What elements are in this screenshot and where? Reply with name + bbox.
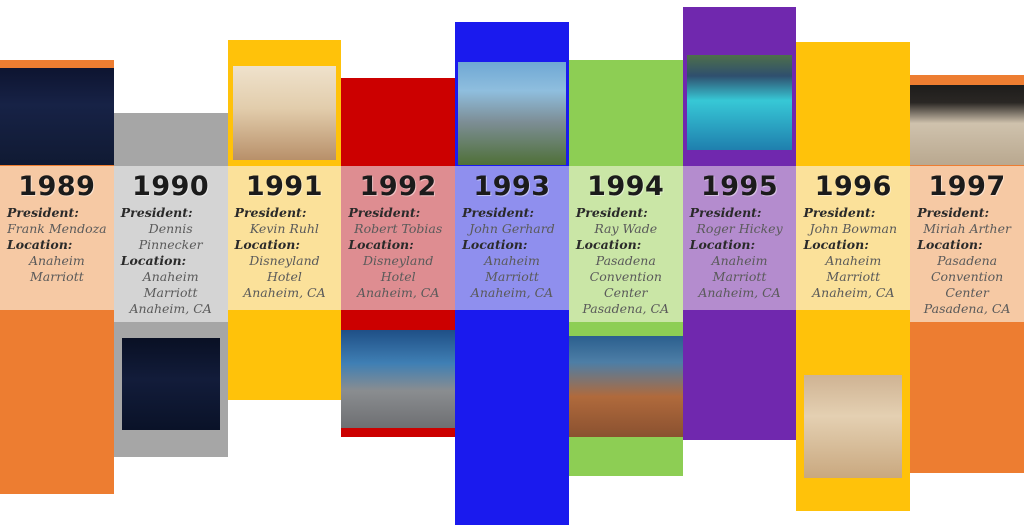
location-value-line: Anaheim, CA xyxy=(796,285,910,301)
location-label: Location: xyxy=(796,237,910,253)
photo-convention-center-banquet-hall xyxy=(910,85,1024,165)
timeline-column-1990[interactable]: 1990President:Dennis PinneckerLocation:A… xyxy=(114,0,228,531)
photo-marriott-atrium-lobby xyxy=(804,375,902,478)
location-label: Location: xyxy=(341,237,455,253)
president-label: President: xyxy=(683,205,797,221)
president-value: John Gerhard xyxy=(455,221,569,237)
president-label: President: xyxy=(0,205,114,221)
location-label: Location: xyxy=(910,237,1024,253)
president-label: President: xyxy=(114,205,228,221)
location-value-line: Anaheim, CA xyxy=(228,285,342,301)
year-label: 1994 xyxy=(569,166,683,205)
president-label: President: xyxy=(569,205,683,221)
year-info-panel[interactable]: 1994President:Ray WadeLocation:PasadenaC… xyxy=(569,166,683,322)
president-value: Kevin Ruhl xyxy=(228,221,342,237)
location-value-line: Anaheim xyxy=(0,253,114,269)
location-value-line: Pasadena, CA xyxy=(910,301,1024,317)
president-value: Dennis Pinnecker xyxy=(114,221,228,253)
timeline-column-1993[interactable]: 1993President:John GerhardLocation:Anahe… xyxy=(455,0,569,531)
location-value-line: Disneyland Hotel xyxy=(228,253,342,285)
location-value-line: Marriott xyxy=(0,269,114,285)
location-value-line: Pasadena xyxy=(910,253,1024,269)
year-info-panel[interactable]: 1990President:Dennis PinneckerLocation:A… xyxy=(114,166,228,322)
location-value-line: Anaheim, CA xyxy=(683,285,797,301)
location-label: Location: xyxy=(0,237,114,253)
year-label: 1996 xyxy=(796,166,910,205)
photo-anaheim-resort-walkway-night xyxy=(122,338,220,430)
year-info-panel[interactable]: 1997President:Miriah ArtherLocation:Pasa… xyxy=(910,166,1024,322)
photo-anaheim-marriott-tower-daylight xyxy=(458,62,566,165)
president-value: Robert Tobias xyxy=(341,221,455,237)
president-label: President: xyxy=(910,205,1024,221)
timeline-column-1996[interactable]: 1996President:John BowmanLocation:Anahei… xyxy=(796,0,910,531)
year-info-panel[interactable]: 1989President:Frank MendozaLocation:Anah… xyxy=(0,166,114,310)
president-label: President: xyxy=(341,205,455,221)
year-label: 1991 xyxy=(228,166,342,205)
year-info-panel[interactable]: 1993President:John GerhardLocation:Anahe… xyxy=(455,166,569,310)
year-info-panel[interactable]: 1992President:Robert TobiasLocation:Disn… xyxy=(341,166,455,310)
location-value-line: Pasadena, CA xyxy=(569,301,683,317)
year-label: 1993 xyxy=(455,166,569,205)
photo-pasadena-convention-center-evening xyxy=(569,336,683,437)
president-value: John Bowman xyxy=(796,221,910,237)
president-value: Frank Mendoza xyxy=(0,221,114,237)
location-value-line: Anaheim, CA xyxy=(455,285,569,301)
timeline-column-1992[interactable]: 1992President:Robert TobiasLocation:Disn… xyxy=(341,0,455,531)
year-info-panel[interactable]: 1996President:John BowmanLocation:Anahei… xyxy=(796,166,910,310)
location-label: Location: xyxy=(683,237,797,253)
president-value: Miriah Arther xyxy=(910,221,1024,237)
location-value-line: Disneyland Hotel xyxy=(341,253,455,285)
timeline-column-1991[interactable]: 1991President:Kevin RuhlLocation:Disneyl… xyxy=(228,0,342,531)
president-label: President: xyxy=(455,205,569,221)
location-value-line: Convention Center xyxy=(910,269,1024,301)
location-value-line: Anaheim Marriott xyxy=(796,253,910,285)
year-label: 1997 xyxy=(910,166,1024,205)
photo-hotel-pool-loungers xyxy=(687,55,793,150)
location-value-line: Pasadena xyxy=(569,253,683,269)
timeline-column-1994[interactable]: 1994President:Ray WadeLocation:PasadenaC… xyxy=(569,0,683,531)
location-label: Location: xyxy=(455,237,569,253)
location-label: Location: xyxy=(228,237,342,253)
location-value-line: Anaheim xyxy=(114,269,228,285)
timeline-column-1995[interactable]: 1995President:Roger HickeyLocation:Anahe… xyxy=(683,0,797,531)
year-info-panel[interactable]: 1991President:Kevin RuhlLocation:Disneyl… xyxy=(228,166,342,310)
location-value-line: Convention Center xyxy=(569,269,683,301)
president-value: Roger Hickey xyxy=(683,221,797,237)
year-info-panel[interactable]: 1995President:Roger HickeyLocation:Anahe… xyxy=(683,166,797,310)
year-label: 1995 xyxy=(683,166,797,205)
timeline-infographic: 1989President:Frank MendozaLocation:Anah… xyxy=(0,0,1024,531)
year-label: 1990 xyxy=(114,166,228,205)
president-label: President: xyxy=(228,205,342,221)
photo-disneyland-park-guests-carousel xyxy=(341,330,455,428)
timeline-column-1989[interactable]: 1989President:Frank MendozaLocation:Anah… xyxy=(0,0,114,531)
location-value-line: Anaheim Marriott xyxy=(455,253,569,285)
year-label: 1989 xyxy=(0,166,114,205)
location-value-line: Anaheim, CA xyxy=(341,285,455,301)
president-value: Ray Wade xyxy=(569,221,683,237)
location-value-line: Anaheim, CA xyxy=(114,301,228,317)
year-label: 1992 xyxy=(341,166,455,205)
photo-anaheim-marriott-exterior-night xyxy=(0,68,114,165)
photo-disneyland-hotel-lobby-chandeliers xyxy=(233,66,337,160)
president-label: President: xyxy=(796,205,910,221)
location-value-line: Marriott xyxy=(114,285,228,301)
location-label: Location: xyxy=(569,237,683,253)
location-label: Location: xyxy=(114,253,228,269)
location-value-line: Anaheim Marriott xyxy=(683,253,797,285)
timeline-column-1997[interactable]: 1997President:Miriah ArtherLocation:Pasa… xyxy=(910,0,1024,531)
